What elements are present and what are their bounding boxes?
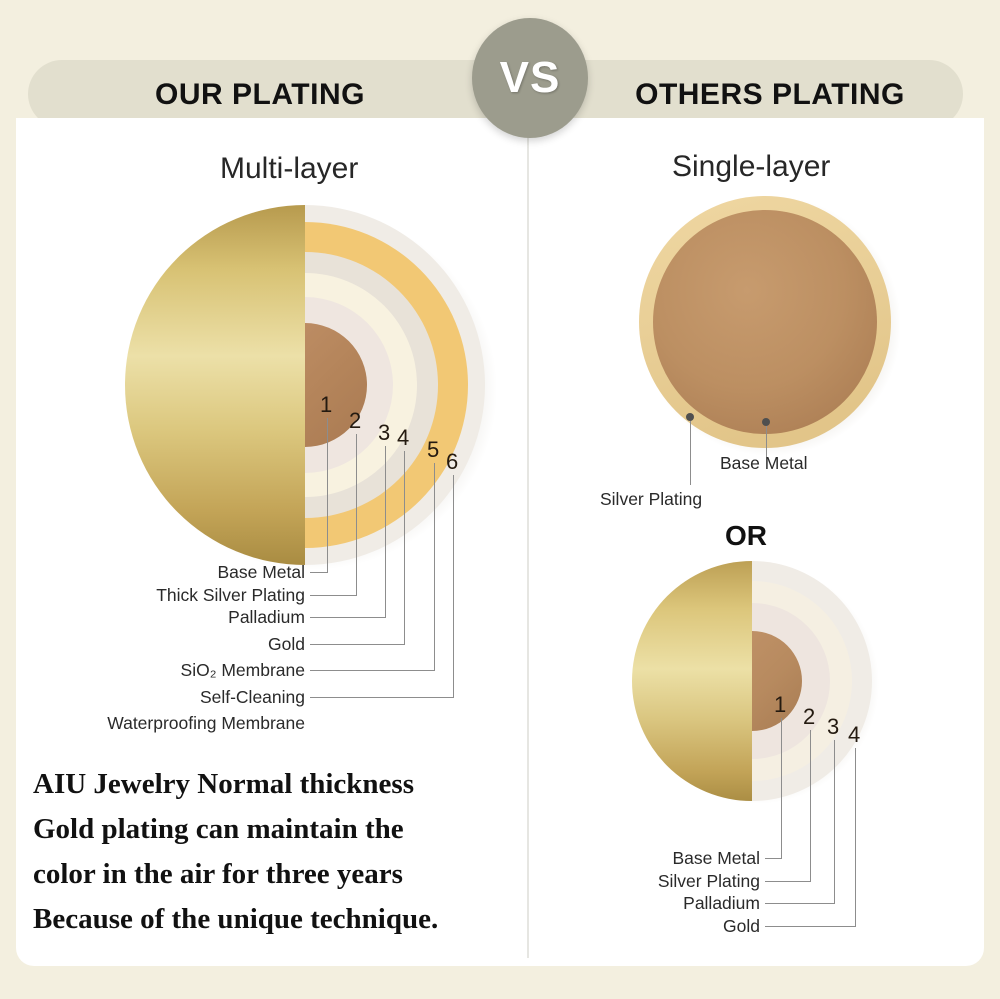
left-label-waterproofing-membrane: Waterproofing Membrane (5, 713, 305, 734)
left-leader-v-3 (385, 446, 386, 617)
blurb-line-1: AIU Jewelry Normal thickness (33, 762, 513, 807)
infographic-root: OUR PLATING OTHERS PLATING VS Multi-laye… (0, 0, 1000, 999)
right-leader-h-1 (765, 858, 782, 859)
left-leader-v-1 (327, 418, 328, 572)
right-number-3: 3 (827, 714, 839, 740)
right-top-label-silver-plating: Silver Plating (600, 489, 760, 510)
vs-badge: VS (472, 18, 588, 138)
singlelayer-sphere-graphic (635, 192, 900, 457)
left-leader-h-1 (310, 572, 328, 573)
right-number-2: 2 (803, 704, 815, 730)
left-subtitle: Multi-layer (220, 152, 358, 186)
header-title-ours: OUR PLATING (30, 72, 490, 118)
right-subtitle: Single-layer (672, 150, 830, 184)
right-top-label-base-metal: Base Metal (720, 453, 920, 474)
or-separator-label: OR (725, 520, 767, 552)
left-leader-v-6 (453, 475, 454, 697)
left-number-1: 1 (320, 392, 332, 418)
left-label-sio2-membrane: SiO₂ Membrane (5, 660, 305, 681)
left-label-gold: Gold (5, 634, 305, 655)
left-number-6: 6 (446, 449, 458, 475)
right-number-1: 1 (774, 692, 786, 718)
left-label-self-cleaning: Self-Cleaning (5, 687, 305, 708)
left-leader-h-3 (310, 617, 386, 618)
right-leader-v-2 (810, 730, 811, 881)
left-leader-h-6 (310, 697, 454, 698)
left-leader-h-4 (310, 644, 405, 645)
right-label-gold: Gold (560, 916, 760, 937)
right-leader-h-4 (765, 926, 856, 927)
multilayer-sphere-graphic (100, 190, 500, 580)
left-leader-v-4 (404, 451, 405, 644)
left-leader-h-5 (310, 670, 435, 671)
left-leader-v-5 (434, 463, 435, 670)
right-number-4: 4 (848, 722, 860, 748)
right-leader-h-3 (765, 903, 835, 904)
blurb-line-3: color in the air for three years (33, 852, 513, 897)
blurb-line-2: Gold plating can maintain the (33, 807, 513, 852)
right-label-palladium: Palladium (560, 893, 760, 914)
right-top-dot-base-metal (762, 418, 770, 426)
column-divider (527, 128, 529, 958)
left-leader-v-2 (356, 434, 357, 595)
left-label-thick-silver-plating: Thick Silver Plating (5, 585, 305, 606)
right-leader-v-1 (781, 718, 782, 858)
left-number-2: 2 (349, 408, 361, 434)
left-number-5: 5 (427, 437, 439, 463)
left-leader-h-2 (310, 595, 357, 596)
left-label-base-metal: Base Metal (5, 562, 305, 583)
right-label-silver-plating: Silver Plating (560, 871, 760, 892)
right-leader-v-3 (834, 740, 835, 903)
vs-label: VS (500, 53, 561, 103)
left-number-3: 3 (378, 420, 390, 446)
left-label-palladium: Palladium (5, 607, 305, 628)
right-top-dot-silver (686, 413, 694, 421)
right-leader-v-4 (855, 748, 856, 926)
header-title-others: OTHERS PLATING (570, 72, 970, 118)
right-leader-h-2 (765, 881, 811, 882)
left-number-4: 4 (397, 425, 409, 451)
left-blurb: AIU Jewelry Normal thickness Gold platin… (33, 762, 513, 942)
right-label-base-metal: Base Metal (560, 848, 760, 869)
right-top-leader-silver (690, 421, 691, 485)
blurb-line-4: Because of the unique technique. (33, 897, 513, 942)
